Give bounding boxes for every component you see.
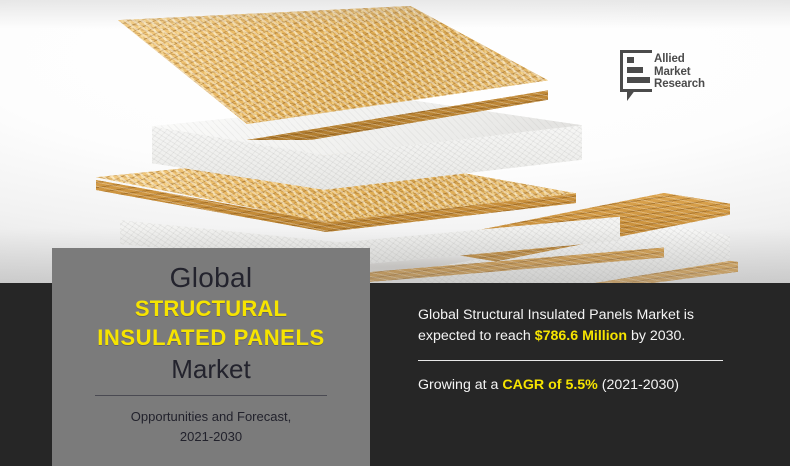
logo-line-3: Research [654,78,705,91]
market-report-banner: Allied Market Research Global STRUCTURAL… [0,0,790,466]
logo-bar-3 [627,77,650,83]
logo-bar-1 [627,57,634,63]
title-card-divider [95,395,327,396]
allied-market-research-logo: Allied Market Research [620,50,706,102]
stats-divider [418,360,723,361]
logo-bar-2 [627,67,643,73]
speech-bubble-icon [620,50,652,92]
cagr-highlight: CAGR of 5.5% [502,377,597,393]
stat-line-2-suffix: by 2030. [627,328,685,344]
title-global: Global [52,262,370,294]
stat-line-3-prefix: Growing at a [418,377,502,393]
stat-line-3: Growing at a CAGR of 5.5% (2021-2030) [418,375,738,396]
logo-line-2: Market [654,66,705,79]
title-card: Global STRUCTURAL INSULATED PANELS Marke… [52,248,370,466]
title-headline-line-2: INSULATED PANELS [52,323,370,352]
title-subtitle-line-2: 2021-2030 [52,427,370,447]
stat-line-2: expected to reach $786.6 Million by 2030… [418,326,738,347]
logo-wordmark: Allied Market Research [654,50,705,91]
stat-line-2-prefix: expected to reach [418,328,535,344]
stat-line-1: Global Structural Insulated Panels Marke… [418,305,738,326]
title-market: Market [52,352,370,386]
product-photo: Allied Market Research [0,0,790,285]
title-subtitle-line-1: Opportunities and Forecast, [52,407,370,427]
stats-block: Global Structural Insulated Panels Marke… [418,305,738,396]
bar-chart-icon [627,57,650,83]
stat-line-1-text: Global Structural Insulated Panels Marke… [418,307,694,323]
stat-line-3-suffix: (2021-2030) [598,377,679,393]
logo-line-1: Allied [654,53,705,66]
title-headline-line-1: STRUCTURAL [52,294,370,323]
sip-panel-stack [0,0,790,285]
market-value-highlight: $786.6 Million [535,328,627,344]
